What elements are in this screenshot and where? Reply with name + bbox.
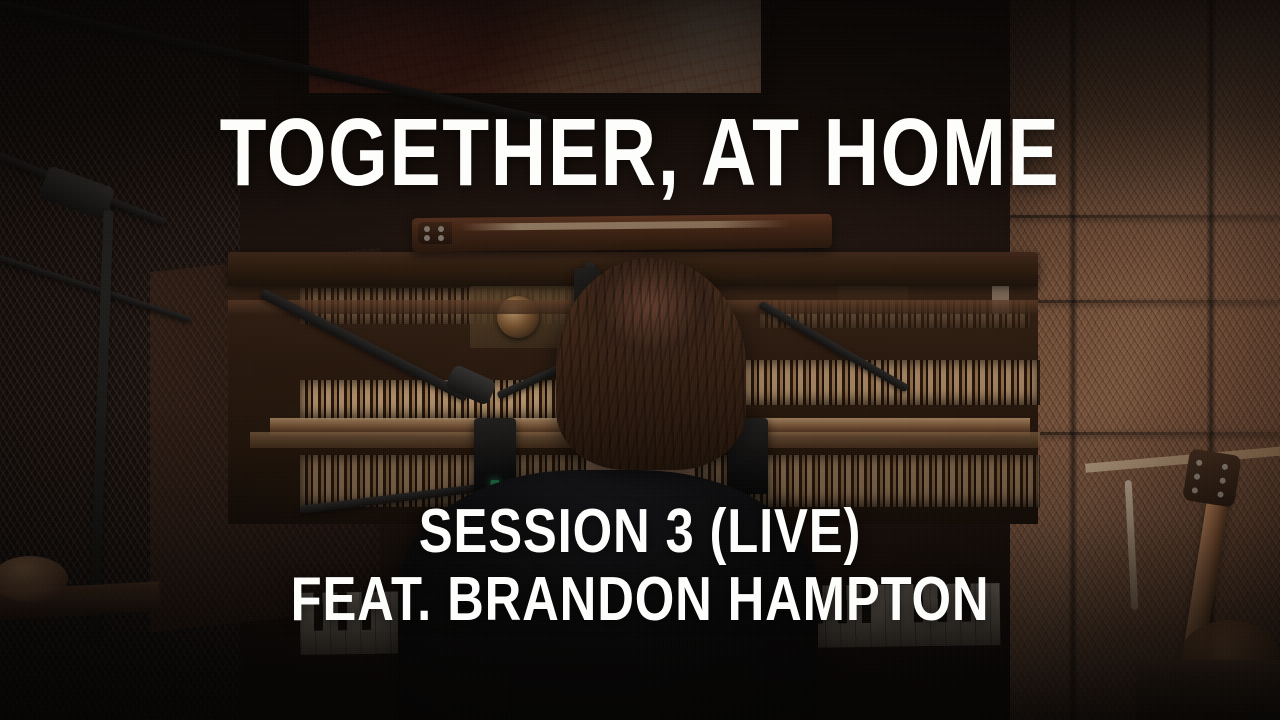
- bottom-darkening: [0, 0, 1280, 720]
- video-thumbnail: TOGETHER, AT HOME SESSION 3 (LIVE) FEAT.…: [0, 0, 1280, 720]
